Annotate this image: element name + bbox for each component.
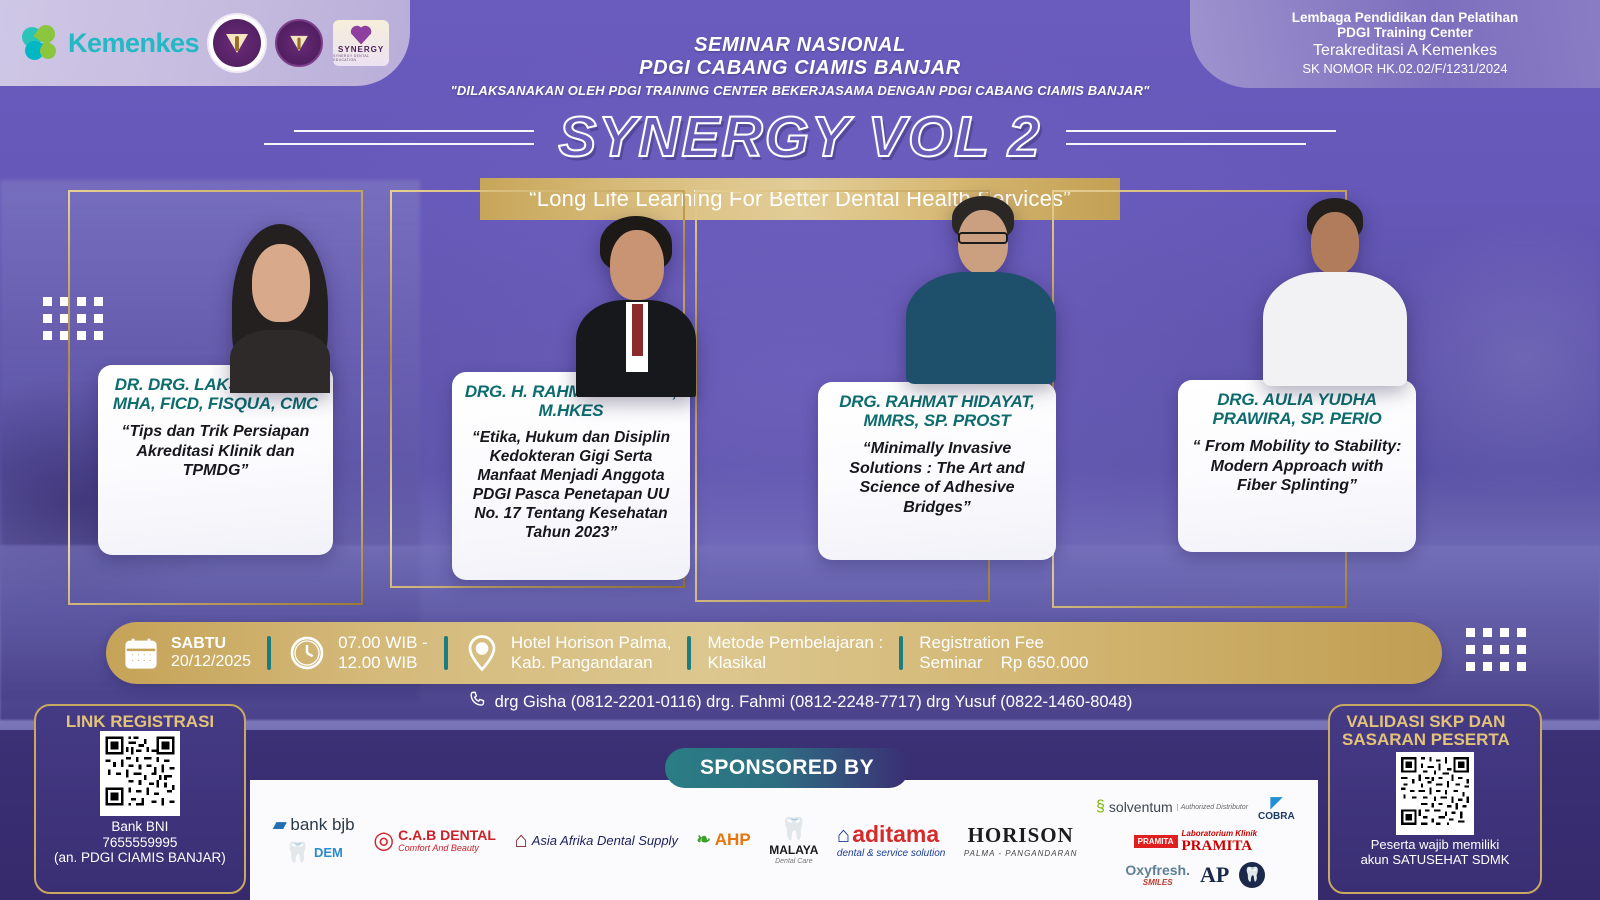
fee-amount: Rp 650.000 <box>1001 653 1089 673</box>
aditama-logo: ⌂ aditama dental & service solution <box>837 821 945 859</box>
registration-box[interactable]: LINK REGISTRASI <box>34 704 246 894</box>
speaker-info-4: DRG. AULIA YUDHA PRAWIRA, SP. PERIO “ Fr… <box>1178 380 1416 552</box>
registration-qr-code[interactable] <box>100 731 180 816</box>
fee-label: Registration Fee <box>919 633 1088 653</box>
validation-title-line-1: VALIDASI SKP DAN <box>1342 713 1510 731</box>
sponsor-group-7: HORISON PALMA - PANGANDARAN <box>964 823 1078 858</box>
sponsor-logos-panel: ▰ bank bjb 🦷DEM ◎ C.A.B DENTAL Comfort A… <box>250 780 1318 900</box>
solventum-logo: § solventum Authorized Distributor <box>1096 798 1248 816</box>
pdgi-triangle-icon <box>290 35 308 50</box>
pdgi-ciamis-banjar-seal <box>275 19 323 67</box>
dot-grid-decoration-right <box>1466 628 1526 671</box>
method-line-2: Klasikal <box>707 653 883 673</box>
heart-icon <box>350 25 372 45</box>
time-line-2: 12.00 WIB <box>338 653 428 673</box>
accreditation-line-3: Terakreditasi A Kemenkes <box>1313 41 1497 62</box>
sponsor-group-1: ▰ bank bjb 🦷DEM <box>273 815 354 865</box>
speaker-topic: “Minimally Invasive Solutions : The Art … <box>830 439 1044 517</box>
accreditation-info: Lembaga Pendidikan dan Pelatihan PDGI Tr… <box>1190 0 1600 88</box>
main-title-row: SYNERGY VOL 2 <box>0 104 1600 170</box>
synergy-wordmark: SYNERGY <box>338 45 384 54</box>
sponsor-group-6: ⌂ aditama dental & service solution <box>837 821 945 859</box>
sponsor-group-3: ⌂ Asia Afrika Dental Supply <box>514 827 678 853</box>
dem-dental-logo: 🦷DEM <box>285 840 343 865</box>
validation-title-line-2: SASARAN PESERTA <box>1342 731 1510 749</box>
kemenkes-mark-icon <box>22 25 60 61</box>
info-fee: Registration Fee Seminar Rp 650.000 <box>903 633 1104 672</box>
sponsor-group-8: § solventum Authorized Distributor ◤ COB… <box>1096 793 1295 888</box>
venue-line-1: Hotel Horison Palma, <box>511 633 672 653</box>
decorative-lines-right <box>1066 130 1336 145</box>
event-info-bar: SABTU 20/12/2025 07.00 WIB - 12.00 WIB <box>106 622 1442 684</box>
sponsor-group-4: ❧AHP <box>697 830 751 850</box>
speaker-photo-2 <box>570 212 705 397</box>
synergy-tagline: SYNERGY DENTAL EDUCATION <box>333 54 389 62</box>
info-time: 07.00 WIB - 12.00 WIB <box>271 633 444 673</box>
date-value: 20/12/2025 <box>171 653 251 671</box>
ahp-logo: ❧AHP <box>697 830 751 850</box>
validation-box[interactable]: VALIDASI SKP DAN SASARAN PESERTA <box>1328 704 1542 894</box>
kemenkes-wordmark: Kemenkes <box>68 28 199 59</box>
fee-type: Seminar <box>919 653 982 673</box>
oxyfresh-logo: Oxyfresh. SMILES <box>1125 862 1190 887</box>
kemenkes-logo: Kemenkes <box>22 25 199 61</box>
info-method: Metode Pembelajaran : Klasikal <box>691 633 899 672</box>
location-pin-icon <box>464 633 500 673</box>
phone-icon <box>468 690 487 714</box>
validation-caption-line-2: akun SATUSEHAT SDMK <box>1361 853 1510 868</box>
bank-name: Bank BNI <box>54 819 226 834</box>
satusehat-qr-code[interactable] <box>1396 752 1474 835</box>
speaker-info-1: DR. DRG. LAKSMI D, MM. MHA, FICD, FISQUA… <box>98 365 333 555</box>
cab-dental-logo: ◎ C.A.B DENTAL Comfort And Beauty <box>373 826 496 855</box>
info-date: SABTU 20/12/2025 <box>106 634 267 672</box>
header-logo-bar: Kemenkes SYNERGY SYNERGY DENTAL EDUCATIO… <box>0 0 410 86</box>
method-line-1: Metode Pembelajaran : <box>707 633 883 653</box>
speaker-info-3: DRG. RAHMAT HIDAYAT, MMRS, SP. PROST “Mi… <box>818 382 1056 560</box>
time-line-1: 07.00 WIB - <box>338 633 428 653</box>
accreditation-line-2: PDGI Training Center <box>1337 25 1473 41</box>
accreditation-line-1: Lembaga Pendidikan dan Pelatihan <box>1292 10 1519 26</box>
speaker-name: DRG. AULIA YUDHA PRAWIRA, SP. PERIO <box>1190 390 1404 428</box>
bank-bjb-logo: ▰ bank bjb <box>273 815 354 835</box>
registration-title: LINK REGISTRASI <box>66 713 214 731</box>
speaker-photo-3 <box>890 196 1070 386</box>
asia-afrika-dental-supply-logo: ⌂ Asia Afrika Dental Supply <box>514 827 678 853</box>
cobra-dental-logo: ◤ COBRA <box>1258 793 1295 822</box>
speaker-topic: “Tips dan Trik Persiapan Akreditasi Klin… <box>110 422 321 481</box>
calendar-icon <box>122 634 160 672</box>
sponsor-group-5: 🦷 MALAYA Dental Care <box>769 816 818 865</box>
contact-text: drg Gisha (0812-2201-0116) drg. Fahmi (0… <box>495 693 1133 712</box>
bank-account-number: 7655559995 <box>54 835 226 850</box>
sponsor-group-2: ◎ C.A.B DENTAL Comfort And Beauty <box>373 826 496 855</box>
accreditation-sk-number: SK NOMOR HK.02.02/F/1231/2024 <box>1302 61 1507 78</box>
validation-caption-line-1: Peserta wajib memiliki <box>1361 838 1510 853</box>
date-day-label: SABTU <box>171 635 251 653</box>
event-main-title: SYNERGY VOL 2 <box>558 104 1041 170</box>
dental-shield-logo: 🦷 <box>1239 862 1265 888</box>
info-venue: Hotel Horison Palma, Kab. Pangandaran <box>448 633 688 673</box>
malaya-dental-care-logo: 🦷 MALAYA Dental Care <box>769 816 818 865</box>
speakers-section: DR. DRG. LAKSMI D, MM. MHA, FICD, FISQUA… <box>0 190 1600 615</box>
seminar-poster: Kemenkes SYNERGY SYNERGY DENTAL EDUCATIO… <box>0 0 1600 900</box>
speaker-photo-1 <box>218 218 343 393</box>
venue-line-2: Kab. Pangandaran <box>511 653 672 673</box>
ap-logo: AP <box>1200 862 1229 888</box>
speaker-photo-4 <box>1245 198 1420 388</box>
pdgi-triangle-icon <box>226 34 248 53</box>
pramita-lab-logo: PRAMITA Laboratorium Klinik PRAMITA <box>1134 829 1257 855</box>
speaker-name: DRG. RAHMAT HIDAYAT, MMRS, SP. PROST <box>830 392 1044 430</box>
clock-icon <box>287 633 327 673</box>
speaker-topic: “ From Mobility to Stability: Modern App… <box>1190 437 1404 496</box>
decorative-lines-left <box>264 130 534 145</box>
pdgi-training-center-seal <box>209 15 265 71</box>
speaker-info-2: DRG. H. RAHMAT JULIADI, M.HKES “Etika, H… <box>452 372 690 580</box>
synergy-logo: SYNERGY SYNERGY DENTAL EDUCATION <box>333 20 389 66</box>
sponsored-by-label: SPONSORED BY <box>665 748 909 788</box>
bank-account-holder: (an. PDGI CIAMIS BANJAR) <box>54 850 226 865</box>
speaker-topic: “Etika, Hukum dan Disiplin Kedokteran Gi… <box>464 429 678 542</box>
horison-palma-logo: HORISON PALMA - PANGANDARAN <box>964 823 1078 858</box>
